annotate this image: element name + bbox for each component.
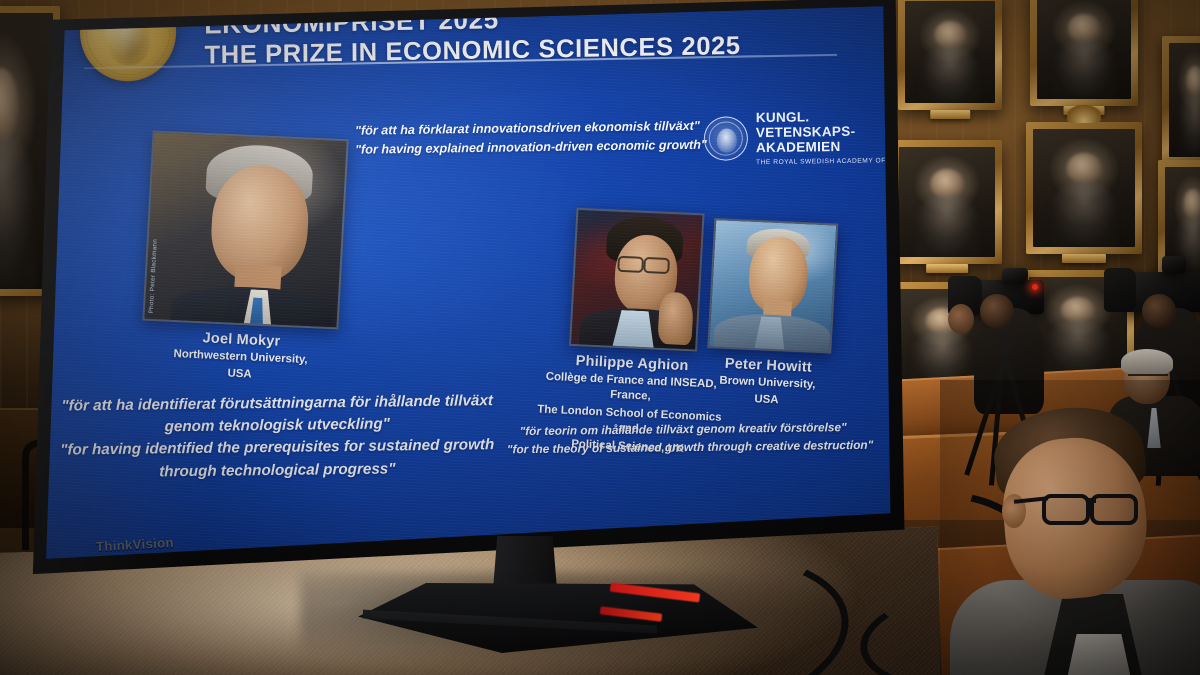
laureate-card-mokyr: Photo: Peter Blackmann Joel Mokyr Northw… <box>139 131 353 388</box>
wall-portrait <box>1162 36 1200 164</box>
wall-portrait <box>1030 0 1138 106</box>
top-citation-english: "for having explained innovation-driven … <box>355 136 696 160</box>
laureate-photo-howitt <box>707 218 838 354</box>
laureate-photo-aghion <box>569 208 705 352</box>
presentation-monitor[interactable]: EKONOMIPRISET 2025 THE PRIZE IN ECONOMIC… <box>24 0 908 580</box>
screenshot-root: EKONOMIPRISET 2025 THE PRIZE IN ECONOMIC… <box>0 0 1200 675</box>
wall-portrait <box>892 140 1002 264</box>
wall-portrait <box>1026 122 1142 254</box>
laureate-label-mokyr: Joel Mokyr Northwestern University, USA <box>139 328 342 388</box>
nobel-announcement-slide: EKONOMIPRISET 2025 THE PRIZE IN ECONOMIC… <box>24 0 908 580</box>
top-citation: "för att ha förklarat innovationsdriven … <box>355 117 696 160</box>
academy-logo: KUNGL. VETENSKAPS- AKADEMIEN THE ROYAL S… <box>704 109 908 167</box>
laureate-card-howitt: Peter Howitt Brown University, USA <box>691 217 851 412</box>
camera-tally-light <box>1032 284 1038 290</box>
laureate-label-howitt: Peter Howitt Brown University, USA <box>691 354 844 412</box>
wall-portrait <box>898 0 1002 110</box>
foreground-attendee <box>960 398 1200 675</box>
bottom-citation-left: "för att ha identifierat förutsättningar… <box>42 390 513 485</box>
nobel-medal-icon <box>79 0 177 82</box>
bottom-citation-right: "för teorin om ihållande tillväxt genom … <box>507 419 860 459</box>
academy-seal-icon <box>704 117 748 162</box>
laureate-photo-mokyr: Photo: Peter Blackmann <box>142 131 348 330</box>
monitor-screen[interactable]: EKONOMIPRISET 2025 THE PRIZE IN ECONOMIC… <box>24 0 908 580</box>
academy-subtitle: THE ROYAL SWEDISH ACADEMY OF SCIENCES <box>756 156 908 166</box>
eyeglasses <box>1090 494 1138 525</box>
eyeglasses <box>1042 494 1090 525</box>
bottom-right-english: "for the theory of sustained growth thro… <box>507 437 860 459</box>
